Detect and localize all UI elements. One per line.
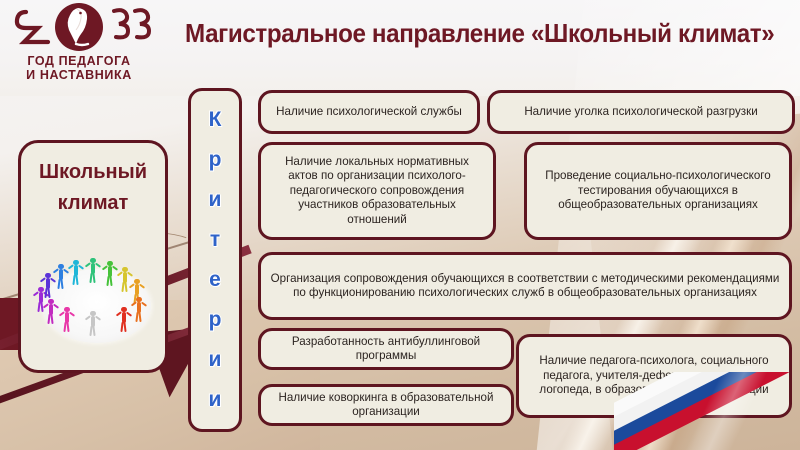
criteria-box: Разработанность антибуллинговой программ… bbox=[258, 328, 514, 370]
figure-person bbox=[57, 264, 65, 290]
figure-person bbox=[63, 307, 71, 333]
criteria-letter: и bbox=[209, 180, 222, 220]
slide-canvas: ГОД ПЕДАГОГА И НАСТАВНИКА Магистральное … bbox=[0, 0, 800, 450]
criteria-box: Наличие уголка психологической разгрузки bbox=[487, 90, 795, 134]
criteria-box: Организация сопровождения обучающихся в … bbox=[258, 252, 792, 320]
criteria-letter: т bbox=[210, 220, 220, 260]
school-climate-panel: Школьный климат bbox=[18, 140, 168, 373]
pelican-emblem bbox=[6, 2, 152, 54]
figure-person bbox=[44, 273, 52, 299]
criteria-box: Наличие психологической службы bbox=[258, 90, 480, 134]
criteria-letter: е bbox=[209, 260, 221, 300]
criteria-column: К р и т е р и и bbox=[188, 88, 242, 432]
figure-person bbox=[47, 299, 55, 325]
figure-person bbox=[89, 311, 97, 337]
criteria-box: Проведение социально-психологического те… bbox=[524, 142, 792, 240]
figure-person bbox=[89, 258, 97, 284]
criteria-letter: р bbox=[209, 140, 222, 180]
figure-person bbox=[135, 297, 143, 323]
page-title: Магистральное направление «Школьный клим… bbox=[185, 18, 743, 48]
criteria-letter: и bbox=[209, 380, 222, 420]
criteria-box: Наличие коворкинга в образовательной орг… bbox=[258, 384, 514, 426]
logo-text-line-2: И НАСТАВНИКА bbox=[6, 68, 152, 82]
year-of-teacher-logo: ГОД ПЕДАГОГА И НАСТАВНИКА bbox=[6, 2, 152, 88]
school-climate-title: Школьный климат bbox=[21, 157, 165, 219]
logo-text-line-1: ГОД ПЕДАГОГА bbox=[6, 54, 152, 68]
school-climate-title-line-2: климат bbox=[21, 188, 165, 219]
criteria-letter: р bbox=[209, 300, 222, 340]
criteria-letter: и bbox=[209, 340, 222, 380]
figure-person bbox=[121, 267, 129, 293]
school-climate-title-line-1: Школьный bbox=[21, 157, 165, 188]
flag-highlight bbox=[610, 366, 800, 450]
criteria-box: Наличие локальных нормативных актов по о… bbox=[258, 142, 496, 240]
figure-person bbox=[120, 307, 128, 333]
figure-person bbox=[106, 261, 114, 287]
figure-person bbox=[72, 260, 80, 286]
criteria-letter: К bbox=[209, 100, 222, 140]
people-circle-illustration bbox=[27, 239, 165, 364]
